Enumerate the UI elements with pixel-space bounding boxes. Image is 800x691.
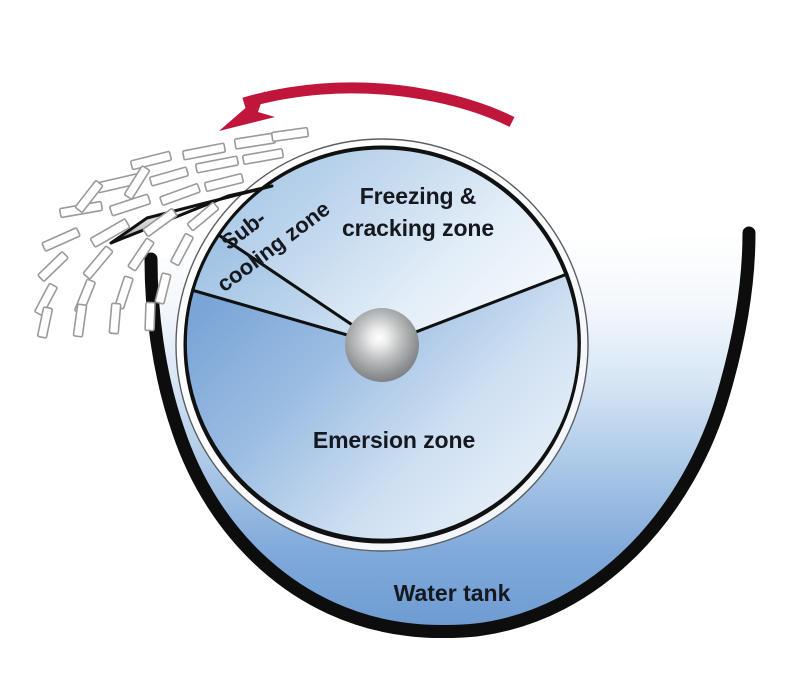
ice-flake <box>196 156 239 173</box>
ice-flake <box>160 183 201 205</box>
ice-flake <box>145 302 155 330</box>
ice-flake <box>83 246 113 279</box>
rotation-arrow <box>219 88 512 131</box>
drum-hub <box>345 308 419 382</box>
ice-flake <box>109 303 121 334</box>
ice-flake <box>149 167 188 186</box>
ice-flake <box>38 251 69 281</box>
ice-flake <box>234 133 275 149</box>
label-emersion-zone: Emersion zone <box>313 427 475 453</box>
ice-machine-diagram: Freezing & cracking zone Sub- cooling zo… <box>0 0 800 691</box>
label-water-tank: Water tank <box>394 580 511 606</box>
ice-flake <box>272 128 309 142</box>
ice-flake <box>131 151 172 169</box>
diagram-canvas: Freezing & cracking zone Sub- cooling zo… <box>0 0 800 691</box>
label-freezing-zone-line2: cracking zone <box>342 215 494 241</box>
rotation-arrow-shaft <box>244 88 512 122</box>
ice-flake <box>183 143 226 160</box>
ice-flake <box>42 228 80 252</box>
label-freezing-zone-line1: Freezing & <box>360 183 477 209</box>
ice-flake <box>204 174 243 192</box>
ice-flake <box>243 149 284 165</box>
